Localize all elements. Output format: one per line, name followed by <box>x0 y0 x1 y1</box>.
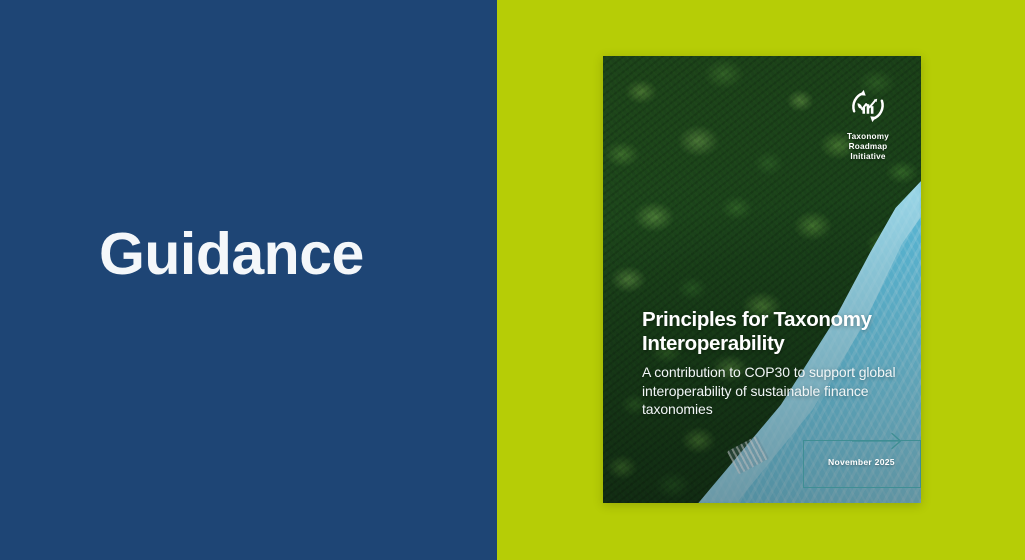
arrow-right-icon <box>852 432 908 450</box>
taxonomy-roadmap-initiative-logo-icon <box>845 83 891 129</box>
logo: Taxonomy Roadmap Initiative <box>837 83 899 162</box>
logo-text: Taxonomy Roadmap Initiative <box>837 132 899 162</box>
slide-canvas: Guidance <box>0 0 1025 560</box>
page-title: Guidance <box>99 224 364 286</box>
cover-title: Principles for Taxonomy Interoperability <box>642 308 897 356</box>
logo-line-3: Initiative <box>837 152 899 162</box>
logo-line-2: Roadmap <box>837 142 899 152</box>
left-navy-panel: Guidance <box>0 0 497 560</box>
cover-subtitle: A contribution to COP30 to support globa… <box>642 363 897 418</box>
cover-text-block: Principles for Taxonomy Interoperability… <box>642 308 897 419</box>
logo-line-1: Taxonomy <box>837 132 899 142</box>
date-label: November 2025 <box>828 457 895 467</box>
right-lime-panel: Taxonomy Roadmap Initiative Principles f… <box>497 0 1025 560</box>
